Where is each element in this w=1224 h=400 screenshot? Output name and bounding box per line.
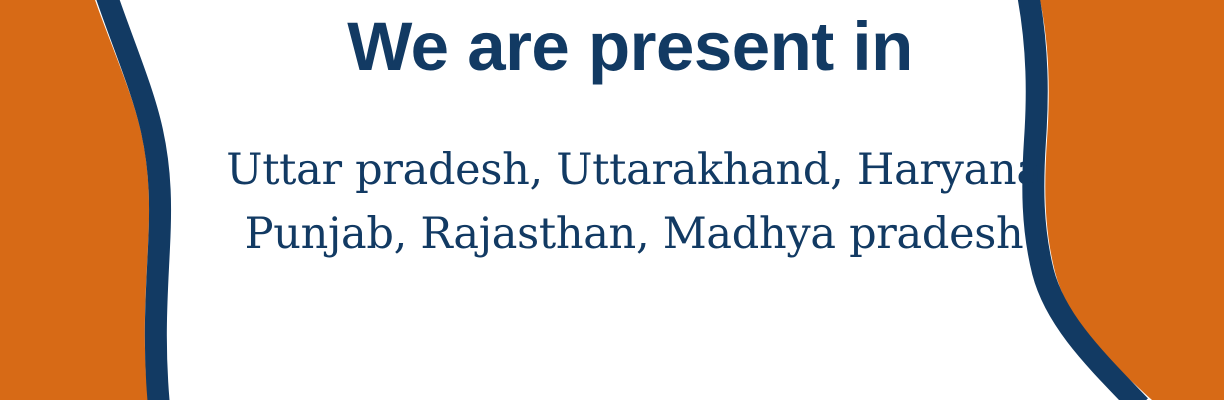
promo-banner: We are present in Uttar pradesh, Uttarak… bbox=[0, 0, 1224, 400]
banner-content: We are present in Uttar pradesh, Uttarak… bbox=[0, 0, 1224, 400]
locations-line-2: Punjab, Rajasthan, Madhya pradesh bbox=[0, 202, 1224, 266]
page-title: We are present in bbox=[0, 12, 1224, 81]
locations-list: Uttar pradesh, Uttarakhand, Haryana Punj… bbox=[0, 138, 1224, 266]
locations-line-1: Uttar pradesh, Uttarakhand, Haryana bbox=[0, 138, 1224, 202]
